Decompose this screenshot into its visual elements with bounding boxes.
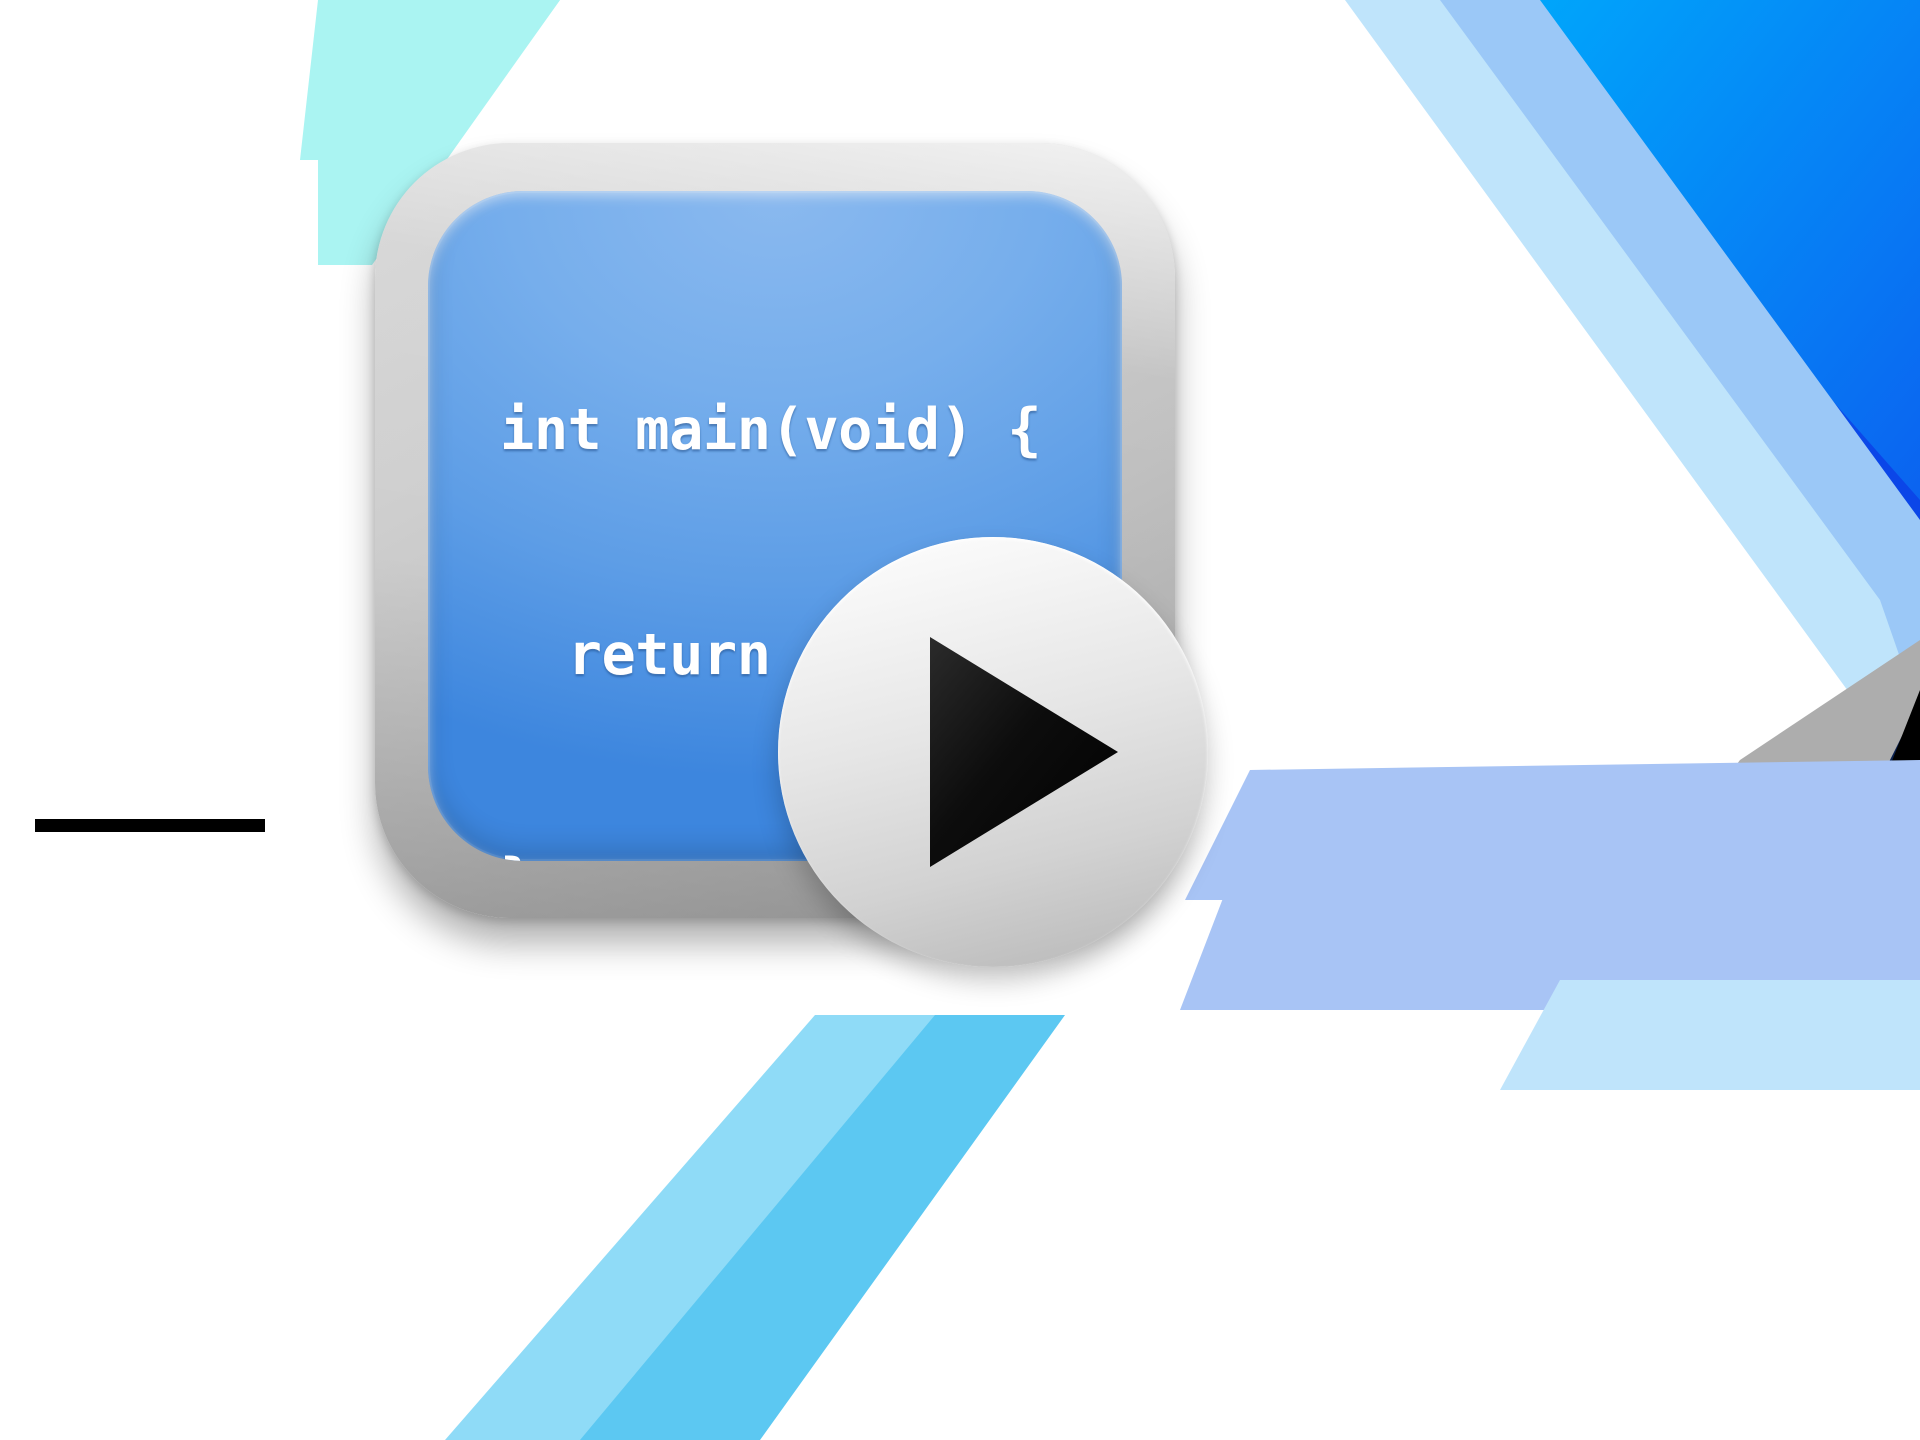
code-line: int main(void) { [500,393,1122,468]
screenshot-canvas: int main(void) { return 0; } static main… [0,0,1920,1440]
pale-blue-stripe-right-lower [1500,980,1920,1090]
play-button[interactable]: Play [778,537,1208,967]
black-rule [35,819,265,832]
play-triangle-icon[interactable] [778,537,1208,967]
